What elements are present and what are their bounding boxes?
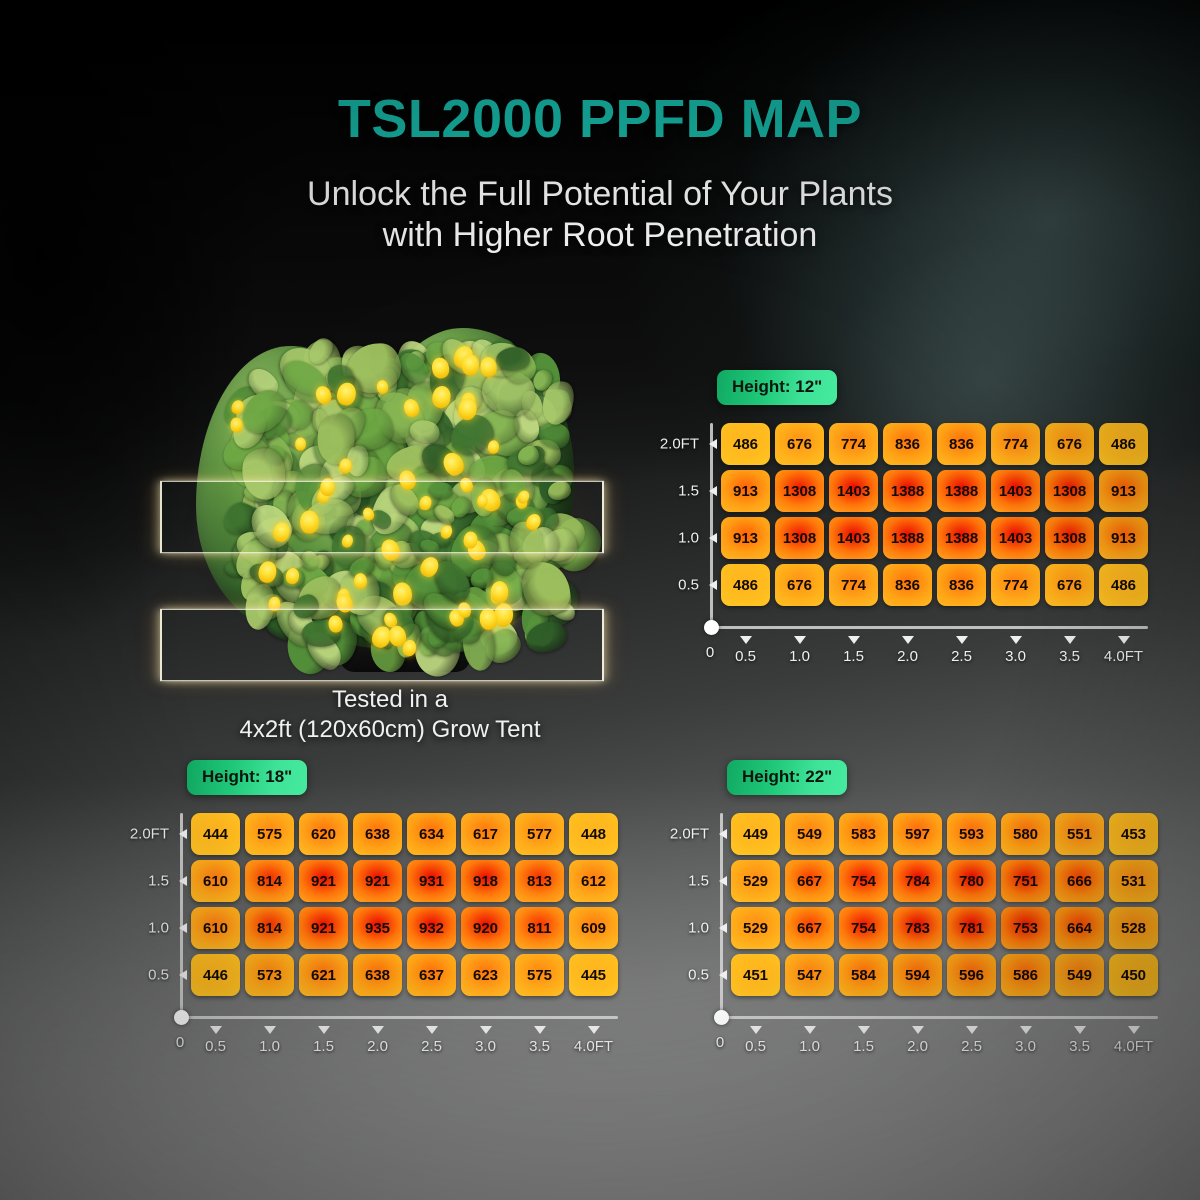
poster-canvas: TSL2000 PPFD MAP Unlock the Full Potenti… xyxy=(0,0,1200,1200)
background-vignette xyxy=(0,0,1200,1200)
